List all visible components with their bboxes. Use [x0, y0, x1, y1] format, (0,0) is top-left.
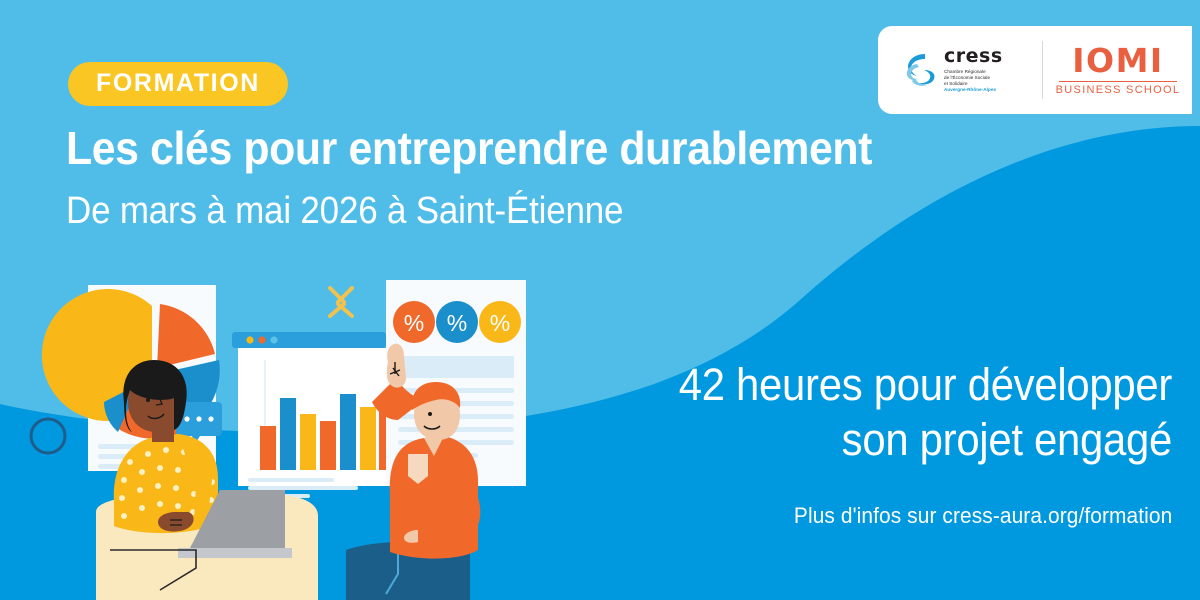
page-subtitle: De mars à mai 2026 à Saint-Étienne — [66, 192, 623, 230]
iomi-rule — [1059, 81, 1177, 82]
logo-card: cress Chambre Régionale de l'Économie So… — [878, 26, 1192, 114]
illustration: % % % — [0, 250, 640, 600]
window-dot-1[interactable] — [246, 336, 253, 343]
iomi-wordmark: IOMI — [1072, 44, 1163, 77]
chat-dot-3 — [208, 416, 213, 421]
chat-dot-2 — [196, 416, 201, 421]
chat-dot-1 — [184, 416, 189, 421]
more-info-label: Plus d'infos sur cress-aura.org/formatio… — [794, 505, 1172, 527]
man-hand — [387, 344, 406, 388]
window-titlebar — [232, 332, 386, 348]
page-title: Les clés pour entreprendre durablement — [66, 125, 872, 171]
cress-logo[interactable]: cress Chambre Régionale de l'Économie So… — [878, 47, 1038, 94]
promo-banner: cress Chambre Régionale de l'Économie So… — [0, 0, 1200, 600]
bar-2 — [280, 398, 296, 470]
pitch-line-1: 42 heures pour développer — [577, 358, 1172, 413]
iomi-subtitle: BUSINESS SCHOOL — [1056, 85, 1181, 96]
formation-badge: FORMATION — [68, 62, 288, 106]
decorative-circle-icon — [31, 419, 65, 453]
window-dot-3[interactable] — [270, 336, 277, 343]
logo-divider — [1042, 41, 1043, 99]
sparkle-icon — [330, 288, 352, 316]
pitch-line-2: son projet engagé — [577, 413, 1172, 468]
man-eye — [428, 412, 432, 416]
percent-badges: % % % — [393, 301, 521, 343]
window-dot-2[interactable] — [258, 336, 265, 343]
cress-region: Auvergne-Rhône-Alpes — [944, 87, 1003, 93]
cress-wordmark: cress — [944, 47, 1003, 66]
svg-text:%: % — [404, 310, 424, 336]
window-line-1 — [248, 478, 334, 482]
svg-text:%: % — [447, 310, 467, 336]
bar-1 — [260, 426, 276, 470]
bar-5 — [340, 394, 356, 470]
iomi-logo[interactable]: IOMI BUSINESS SCHOOL — [1045, 44, 1191, 96]
bar-6 — [360, 407, 376, 470]
woman-eye — [146, 398, 150, 402]
bar-3 — [300, 414, 316, 470]
svg-text:%: % — [490, 310, 510, 336]
cress-swirl-icon — [904, 51, 938, 89]
bar-4 — [320, 421, 336, 470]
window-line-2 — [248, 486, 358, 490]
percent-card-block — [398, 356, 514, 378]
bar-chart-window — [232, 332, 393, 498]
